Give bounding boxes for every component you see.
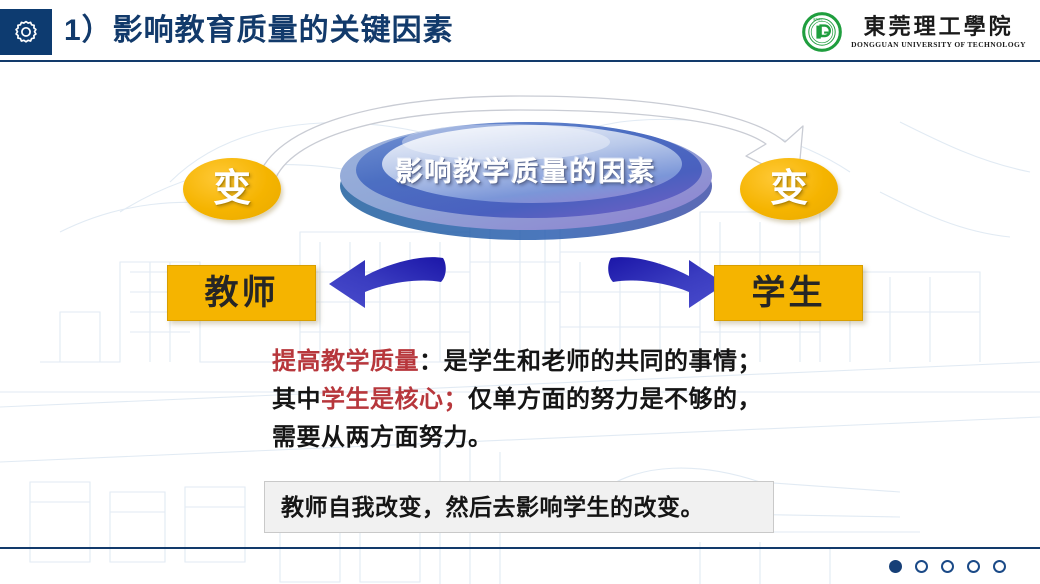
dgut-seal-icon: 東莞理工: [802, 12, 842, 52]
header-icon-badge: [0, 9, 52, 55]
logo-wordmark: 東莞理工學院 DONGGUAN UNIVERSITY OF TECHNOLOGY: [851, 14, 1026, 50]
role-box-student-label: 学生: [752, 276, 826, 310]
pagination-dot-2[interactable]: [915, 560, 928, 573]
gear-icon: [13, 19, 39, 45]
paragraph-segment-2: 学生是核心；: [321, 386, 468, 413]
logo-name-cn: 東莞理工學院: [864, 14, 1014, 39]
arrow-left-icon: [325, 252, 447, 314]
svg-text:東莞理工: 東莞理工: [813, 17, 824, 21]
callout-box: 教师自我改变，然后去影响学生的改变。: [264, 481, 774, 533]
change-badge-left-label: 变: [213, 170, 251, 208]
change-badge-right-label: 变: [770, 170, 808, 208]
body-paragraph: 提高教学质量：是学生和老师的共同的事情；其中学生是核心；仅单方面的努力是不够的，…: [272, 343, 772, 457]
callout-text: 教师自我改变，然后去影响学生的改变。: [281, 496, 704, 519]
page-title: 1）影响教育质量的关键因素: [64, 11, 454, 51]
pagination-dot-1[interactable]: [889, 560, 902, 573]
pagination-dot-5[interactable]: [993, 560, 1006, 573]
pagination-dot-3[interactable]: [941, 560, 954, 573]
logo-name-en: DONGGUAN UNIVERSITY OF TECHNOLOGY: [851, 39, 1026, 50]
role-box-teacher: 教师: [167, 265, 316, 321]
concept-diagram: 影响教学质量的因素 变 变: [0, 62, 1040, 332]
slide: 1）影响教育质量的关键因素 東莞理工 東莞理工學院 DONGGUAN UNIVE…: [0, 0, 1040, 584]
change-badge-left: 变: [183, 158, 281, 220]
disc-label: 影响教学质量的因素: [336, 104, 716, 244]
arrow-right-icon: [607, 252, 729, 314]
pagination-dot-4[interactable]: [967, 560, 980, 573]
change-badge-right: 变: [740, 158, 838, 220]
role-box-teacher-label: 教师: [205, 276, 279, 310]
slide-pagination[interactable]: [889, 560, 1006, 573]
role-box-student: 学生: [714, 265, 863, 321]
university-logo: 東莞理工 東莞理工學院 DONGGUAN UNIVERSITY OF TECHN…: [802, 9, 1026, 55]
footer-divider: [0, 547, 1040, 549]
central-disc: 影响教学质量的因素: [336, 104, 716, 244]
paragraph-segment-0: 提高教学质量: [272, 348, 419, 375]
